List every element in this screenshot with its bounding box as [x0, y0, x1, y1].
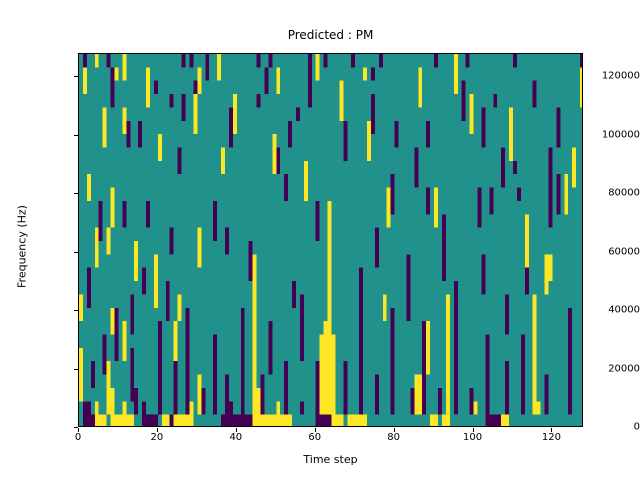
y-tick-mark	[74, 76, 78, 77]
x-tick-mark	[394, 428, 395, 432]
y-tick-label: 100000	[576, 129, 640, 140]
y-tick-label: 0	[576, 422, 640, 433]
x-tick-mark	[551, 428, 552, 432]
heatmap-image	[79, 54, 583, 427]
heatmap-axes	[78, 53, 583, 427]
y-tick-label: 20000	[576, 363, 640, 374]
y-tick-mark	[74, 252, 78, 253]
x-tick-label: 0	[48, 432, 108, 443]
y-tick-mark	[74, 369, 78, 370]
y-tick-label: 120000	[576, 71, 640, 82]
x-tick-label: 40	[206, 432, 266, 443]
x-tick-mark	[315, 428, 316, 432]
y-tick-label: 60000	[576, 246, 640, 257]
y-tick-label: 80000	[576, 188, 640, 199]
x-tick-mark	[473, 428, 474, 432]
y-axis-label: Frequency (Hz)	[16, 137, 29, 357]
x-tick-mark	[78, 428, 79, 432]
x-tick-label: 60	[285, 432, 345, 443]
x-tick-mark	[236, 428, 237, 432]
x-axis-label: Time step	[78, 453, 583, 466]
x-tick-label: 100	[443, 432, 503, 443]
x-tick-mark	[157, 428, 158, 432]
y-tick-label: 40000	[576, 305, 640, 316]
matplotlib-figure: Predicted : PM 0200004000060000800001000…	[0, 0, 640, 480]
chart-title: Predicted : PM	[78, 28, 583, 42]
x-tick-label: 80	[364, 432, 424, 443]
y-tick-mark	[74, 193, 78, 194]
x-tick-label: 20	[127, 432, 187, 443]
x-tick-label: 120	[521, 432, 581, 443]
y-tick-mark	[74, 310, 78, 311]
y-tick-mark	[74, 135, 78, 136]
